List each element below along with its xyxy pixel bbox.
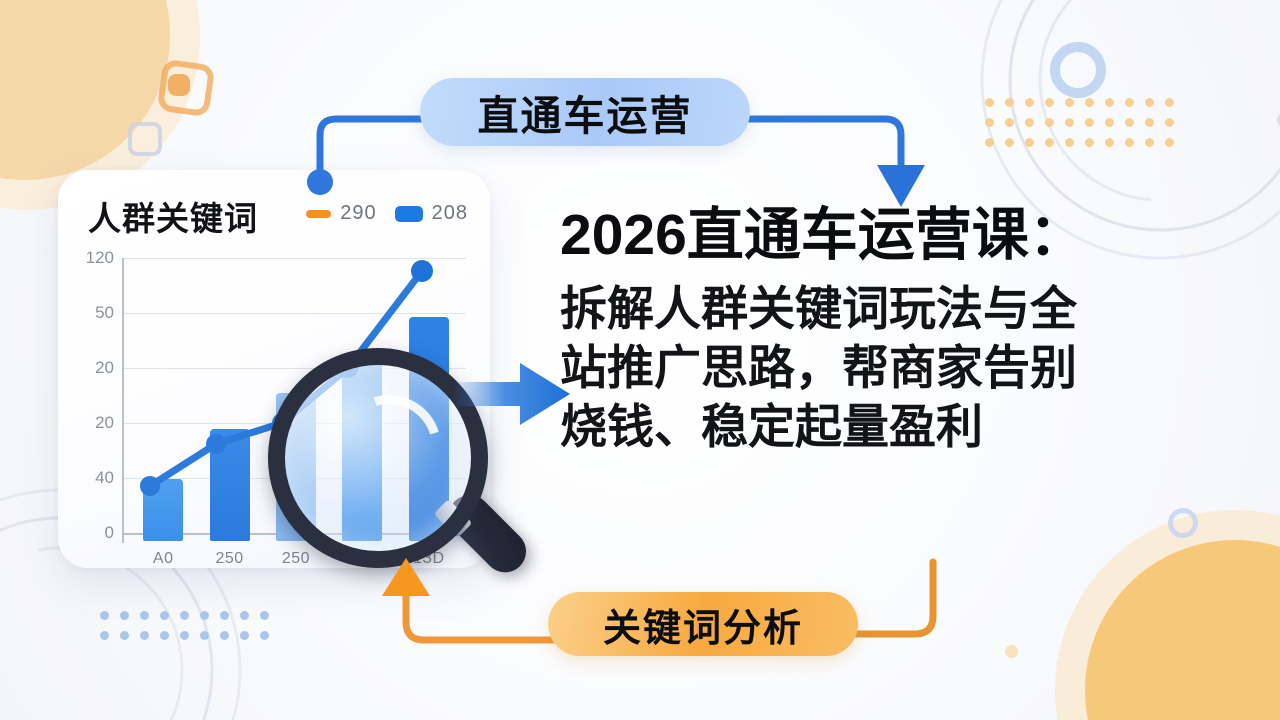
legend-swatch-blue-box xyxy=(395,206,423,222)
decor-circle-top-left xyxy=(0,0,170,180)
magnifier-glint xyxy=(319,377,460,518)
arrow-down-icon xyxy=(877,165,925,207)
y-axis-tick: 20 xyxy=(95,358,114,378)
decor-squircle-lavender xyxy=(128,122,162,156)
page-title: 2026直通车运营课： xyxy=(560,205,1260,267)
legend-item-bar: 208 xyxy=(395,202,468,225)
headline-block: 2026直通车运营课： 拆解人群关键词玩法与全 站推广思路，帮商家告别 烧钱、稳… xyxy=(560,205,1260,456)
decor-circle-bottom-right-halo xyxy=(1055,510,1280,720)
x-axis-tick: A0 xyxy=(143,550,183,568)
y-axis-tick: 0 xyxy=(105,523,114,543)
y-axis-tick: 50 xyxy=(95,303,114,323)
y-axis-tick: 40 xyxy=(95,468,114,488)
subtitle-line: 站推广思路，帮商家告别 xyxy=(560,338,1260,397)
subtitle-line: 拆解人群关键词玩法与全 xyxy=(560,279,1260,338)
decor-squircle-orange-outline xyxy=(157,59,216,118)
subtitle-line: 烧钱、稳定起量盈利 xyxy=(560,397,1260,456)
legend-item-line: 290 xyxy=(306,202,376,225)
legend-swatch-orange-dash xyxy=(306,210,331,218)
chart-y-axis xyxy=(122,258,124,543)
decor-squircle-orange-fill xyxy=(168,74,190,96)
decor-ring-bottom-right xyxy=(1168,508,1198,538)
legend-label-line: 290 xyxy=(340,202,376,225)
chart-title: 人群关键词 xyxy=(88,192,258,240)
badge-bottom-label[interactable]: 关键词分析 xyxy=(548,592,858,656)
connector-bottom-right-elbow xyxy=(845,548,975,658)
y-axis-tick: 20 xyxy=(95,413,114,433)
legend-label-bar: 208 xyxy=(432,202,468,225)
poster-canvas: 人群关键词 290 208 120 50 xyxy=(0,0,1280,720)
y-axis-tick: 120 xyxy=(86,248,114,268)
badge-top-label[interactable]: 直通车运营 xyxy=(420,78,750,146)
decor-circle-bottom-right xyxy=(1085,540,1280,720)
chart-legend: 290 208 xyxy=(306,202,468,225)
arrow-right-icon xyxy=(452,355,572,433)
subtitle-block: 拆解人群关键词玩法与全 站推广思路，帮商家告别 烧钱、稳定起量盈利 xyxy=(560,279,1260,457)
decor-dot-grid-orange xyxy=(985,98,1174,147)
x-axis-tick: 250 xyxy=(210,550,250,568)
decor-ring-top-right xyxy=(1050,42,1106,98)
decor-dot-orange-small xyxy=(1005,645,1018,658)
decor-dot-grid-blue xyxy=(100,611,269,640)
